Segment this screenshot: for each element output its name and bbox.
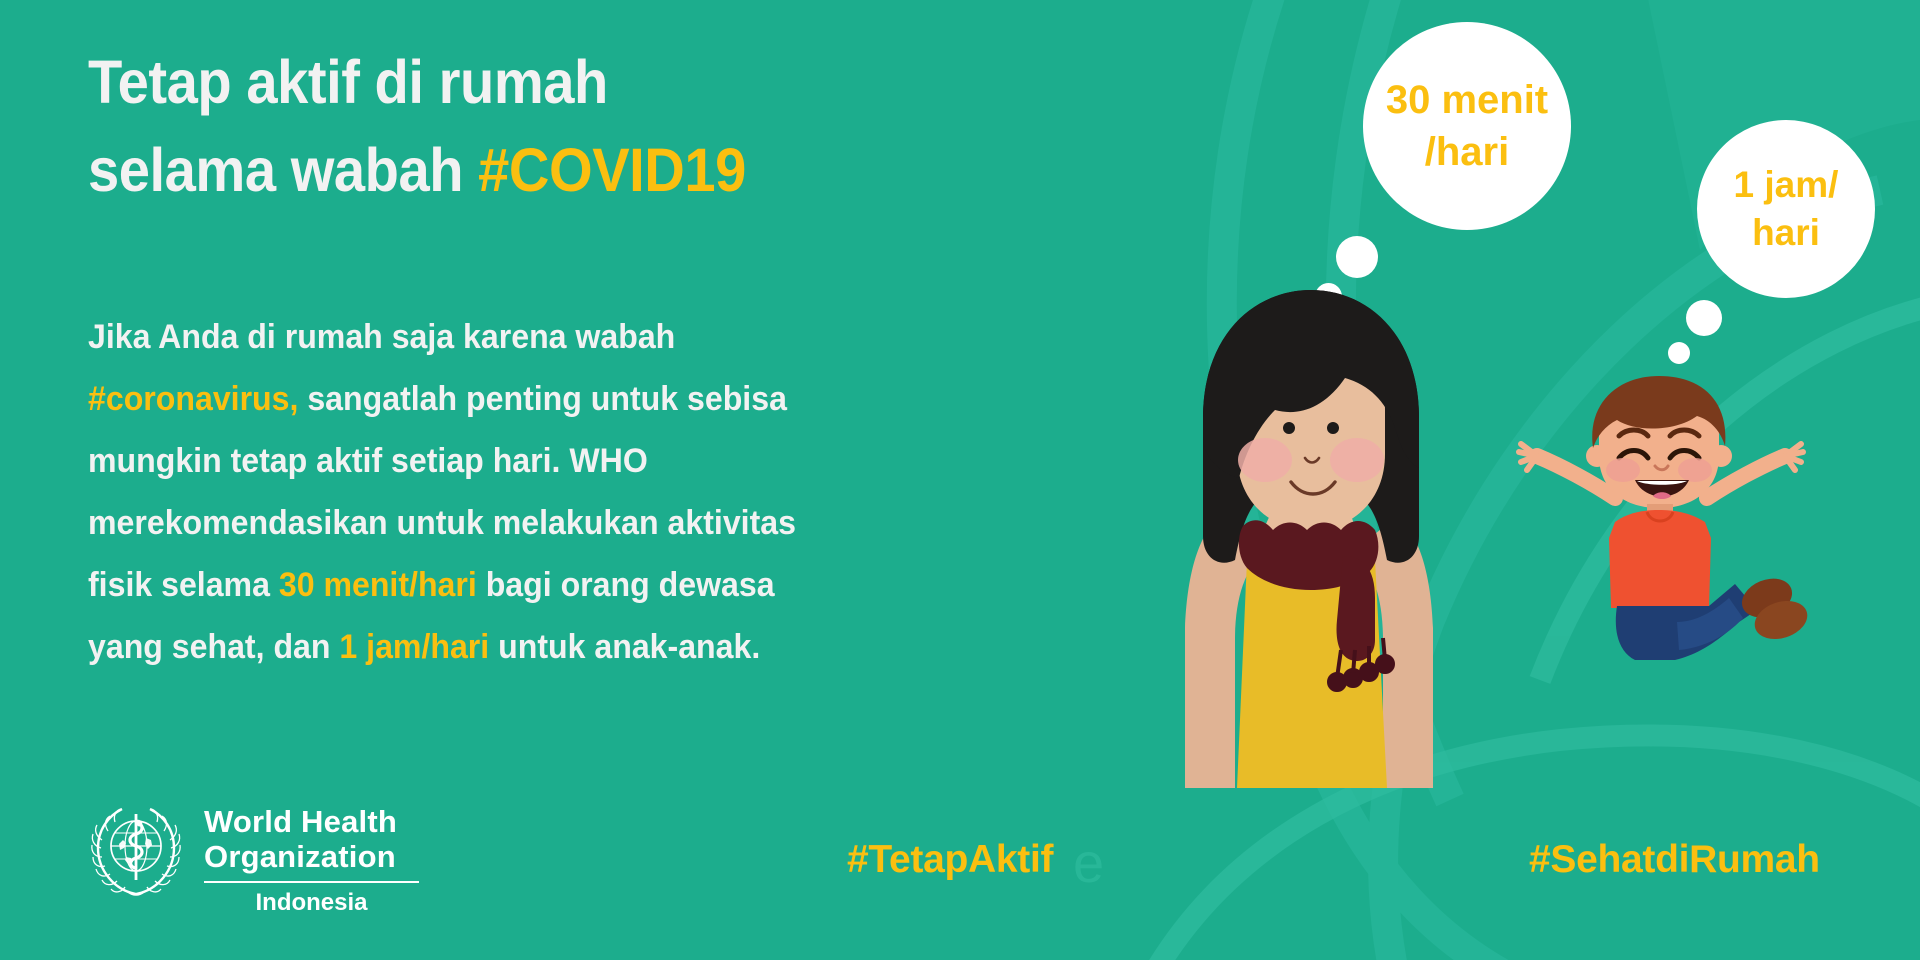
hashtag-tetapaktif: #TetapAktif bbox=[847, 838, 1053, 882]
body-line-3: mungkin tetap aktif setiap hari. WHO bbox=[88, 430, 1074, 492]
woman-blush-right bbox=[1330, 438, 1384, 482]
body-line-4: merekomendasikan untuk melakukan aktivit… bbox=[88, 492, 1074, 554]
headline-line-1: Tetap aktif di rumah bbox=[88, 38, 1008, 126]
hashtag-sehatdirumah: #SehatdiRumah bbox=[1529, 838, 1820, 882]
thought-bubble-adult: 30 menit /hari bbox=[1363, 22, 1571, 230]
body-line-1: Jika Anda di rumah saja karena wabah bbox=[88, 306, 1074, 368]
body-line-5-suffix: bagi orang dewasa bbox=[477, 566, 775, 604]
who-wordmark: World Health Organization Indonesia bbox=[204, 800, 419, 916]
boy-blush-right bbox=[1678, 458, 1712, 482]
woman-eye-left bbox=[1283, 422, 1295, 434]
thought-bubble-child: 1 jam/ hari bbox=[1697, 120, 1875, 298]
woman-blush-left bbox=[1238, 438, 1292, 482]
who-logo: World Health Organization Indonesia bbox=[88, 800, 419, 916]
headline: Tetap aktif di rumah selama wabah #COVID… bbox=[88, 38, 1008, 214]
body-line-6-suffix: untuk anak-anak. bbox=[489, 628, 760, 666]
boy-ear-right bbox=[1710, 445, 1732, 467]
body-line-2: #coronavirus, sangatlah penting untuk se… bbox=[88, 368, 1074, 430]
bubble-child-line-1: 1 jam/ bbox=[1734, 161, 1839, 209]
boy-illustration bbox=[1495, 370, 1825, 660]
child-duration-highlight: 1 jam/hari bbox=[339, 628, 489, 666]
who-divider bbox=[204, 881, 419, 883]
headline-line-2-text: selama wabah bbox=[88, 136, 478, 204]
bubble-adult-line-2: /hari bbox=[1425, 126, 1509, 178]
body-copy: Jika Anda di rumah saja karena wabah #co… bbox=[88, 306, 1074, 678]
body-line-5-prefix: fisik selama bbox=[88, 566, 279, 604]
bubble-child-line-2: hari bbox=[1752, 209, 1820, 257]
background-watermark-letter: e bbox=[1073, 830, 1104, 895]
body-line-6: yang sehat, dan 1 jam/hari untuk anak-an… bbox=[88, 616, 1074, 678]
boy-ear-left bbox=[1586, 445, 1608, 467]
headline-line-2: selama wabah #COVID19 bbox=[88, 126, 1008, 214]
woman-eye-right bbox=[1327, 422, 1339, 434]
thought-dot-small-child bbox=[1668, 342, 1690, 364]
thought-dot-large-child bbox=[1686, 300, 1722, 336]
headline-covid-hashtag: #COVID19 bbox=[478, 136, 746, 204]
bubble-adult-line-1: 30 menit bbox=[1386, 74, 1548, 126]
boy-shirt bbox=[1609, 510, 1711, 608]
coronavirus-hashtag: #coronavirus, bbox=[88, 380, 298, 418]
who-name-line-2: Organization bbox=[204, 839, 419, 874]
adult-duration-highlight: 30 menit/hari bbox=[279, 566, 477, 604]
boy-blush-left bbox=[1606, 458, 1640, 482]
who-emblem-icon bbox=[88, 800, 188, 900]
body-line-5: fisik selama 30 menit/hari bagi orang de… bbox=[88, 554, 1074, 616]
poster-canvas: Tetap aktif di rumah selama wabah #COVID… bbox=[0, 0, 1920, 960]
who-country-label: Indonesia bbox=[204, 889, 419, 916]
who-name-line-1: World Health bbox=[204, 804, 419, 839]
body-line-6-prefix: yang sehat, dan bbox=[88, 628, 339, 666]
woman-illustration bbox=[1125, 268, 1495, 788]
body-line-2-rest: sangatlah penting untuk sebisa bbox=[298, 380, 786, 418]
